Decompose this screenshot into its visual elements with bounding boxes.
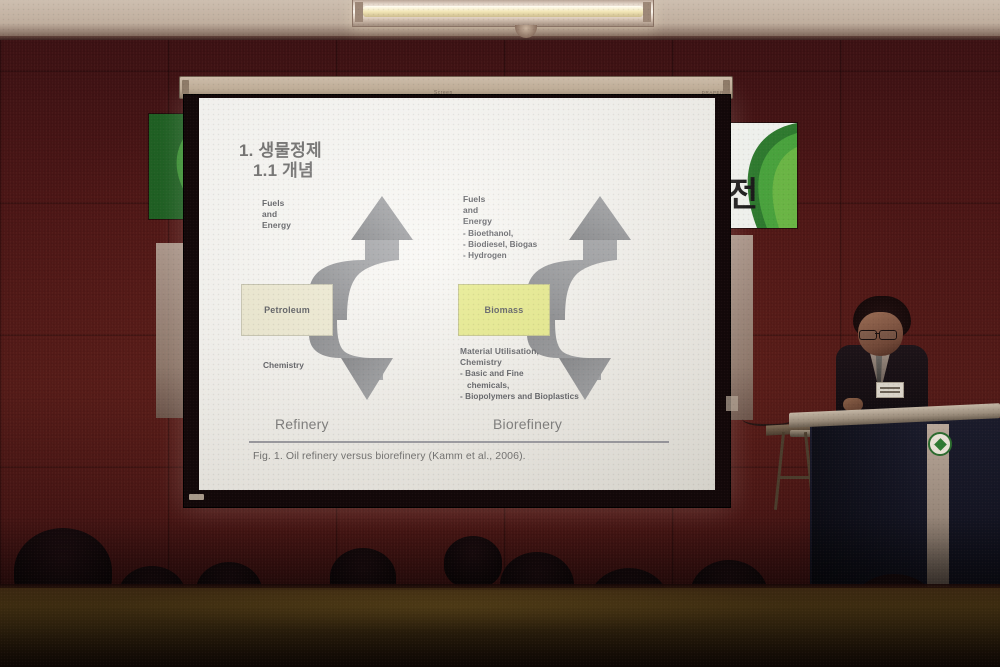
left-header-block: Fuels and Energy — [262, 198, 291, 232]
floor-light-pool — [100, 590, 800, 632]
light-end-cap-right — [643, 2, 651, 22]
left-chemistry-label: Chemistry — [263, 360, 304, 370]
podium-emblem-icon — [928, 432, 952, 456]
petroleum-box: Petroleum — [241, 284, 333, 336]
slide-divider-rule — [249, 441, 669, 443]
cable — [742, 408, 794, 426]
housing-cap-right — [723, 80, 730, 94]
glasses-lens-left-icon — [859, 330, 877, 340]
banner-right: 전 — [722, 122, 798, 229]
fluorescent-tube — [363, 6, 643, 17]
figure-caption: Fig. 1. Oil refinery versus biorefinery … — [253, 450, 526, 462]
biomass-box-label: Biomass — [459, 305, 549, 315]
biorefinery-footer-label: Biorefinery — [493, 416, 562, 432]
wall-outlet-plate — [726, 396, 738, 411]
speaker-name-badge — [876, 382, 904, 398]
slide-title-line-2: 1.1 개념 — [253, 160, 314, 182]
stool — [776, 432, 814, 510]
audience-head — [444, 536, 502, 588]
banner-label-right: 전 — [727, 167, 757, 216]
right-bullet-basic-fine: - Basic and Fine — [460, 368, 579, 379]
presentation-slide: 1. 생물정제 1.1 개념 Fuels and Energy — [199, 98, 715, 490]
right-bottom-block: Material Utilisation, Chemistry - Basic … — [460, 346, 579, 402]
slide-title-line-1: 1. 생물정제 — [239, 140, 322, 162]
right-bullet-chemicals: chemicals, — [460, 380, 579, 391]
light-end-cap-left — [355, 2, 363, 22]
left-header-energy: Energy — [262, 220, 291, 231]
material-utilisation-label: Material Utilisation, — [460, 346, 579, 357]
lecture-hall-photo: 전 Screen DRAPER 1. 생물정제 1.1 개념 Fuels and… — [0, 0, 1000, 667]
housing-cap-left — [182, 80, 189, 94]
petroleum-box-label: Petroleum — [242, 305, 332, 315]
glasses-bridge-icon — [875, 333, 879, 334]
glasses-lens-right-icon — [879, 330, 897, 340]
right-chemistry-label: Chemistry — [460, 357, 579, 368]
fluorescent-light-fixture — [352, 0, 654, 27]
biomass-box: Biomass — [458, 284, 550, 336]
left-header-and: and — [262, 209, 291, 220]
left-header-fuels: Fuels — [262, 198, 291, 209]
right-bullet-biopolymers: - Biopolymers and Bioplastics — [460, 391, 579, 402]
refinery-footer-label: Refinery — [275, 416, 329, 432]
screen-pull-tab[interactable] — [189, 494, 204, 500]
